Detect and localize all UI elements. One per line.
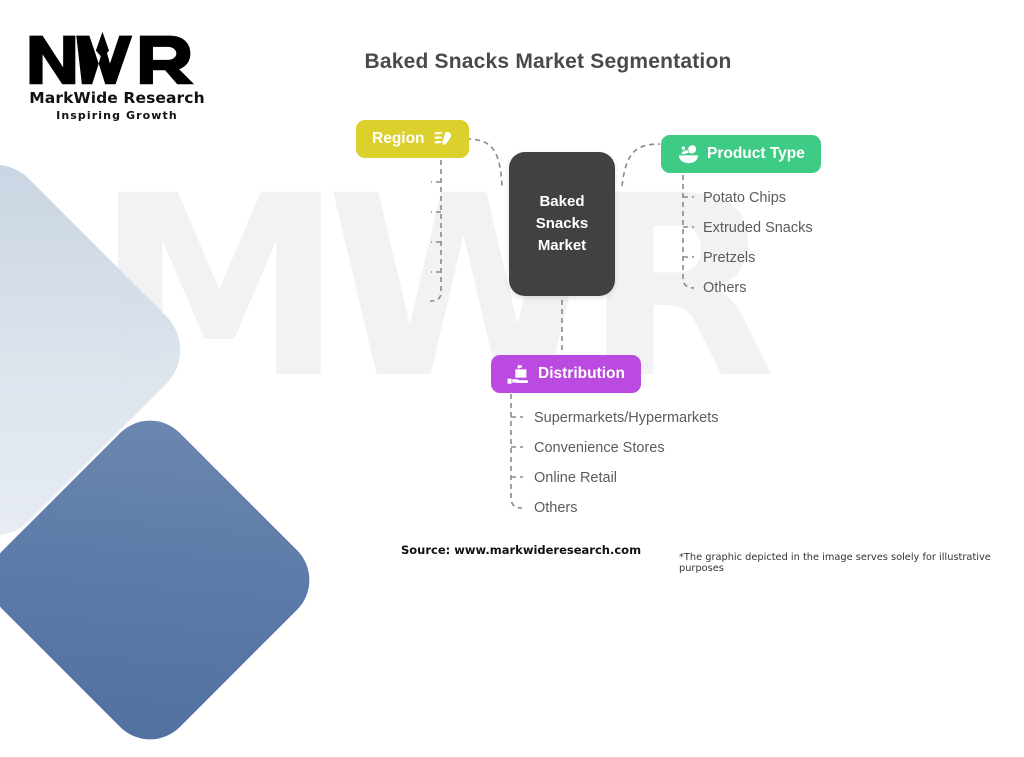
branch-badge-product[interactable]: Product Type [661,135,821,173]
connector-distribution-stubs [511,417,523,477]
list-item: Others [534,501,578,516]
list-item: Pretzels [703,251,755,266]
connector-region-trunk [430,160,441,301]
branch-label-distribution: Distribution [538,365,625,383]
center-node-line2: Snacks [536,213,589,235]
list-item: Potato Chips [703,191,786,206]
list-item: Convenience Stores [534,441,665,456]
list-item: Supermarkets/Hypermarkets [534,411,719,426]
connector-product-stubs [683,197,694,257]
snack-bowl-icon [677,144,700,164]
branch-badge-distribution[interactable]: Distribution [491,355,641,393]
diagram-canvas: MWR MarkWide Research Inspiring Growth B… [0,0,1024,576]
hand-package-icon [507,364,531,385]
list-item: Others [703,281,747,296]
branch-label-product: Product Type [707,145,805,163]
list-item: Extruded Snacks [703,221,813,236]
connector-distribution-trunk [511,394,522,508]
center-node-line3: Market [536,235,589,257]
globe-people-icon [432,130,453,148]
connector-region-stubs [431,182,441,272]
branch-label-region: Region [372,130,425,148]
center-node: Baked Snacks Market [509,152,615,296]
connector-center-to-product [622,144,660,186]
connector-region-to-center [466,139,502,186]
center-node-line1: Baked [536,191,589,213]
connector-product-trunk [683,175,694,288]
branch-badge-region[interactable]: Region [356,120,469,158]
list-item: Online Retail [534,471,617,486]
